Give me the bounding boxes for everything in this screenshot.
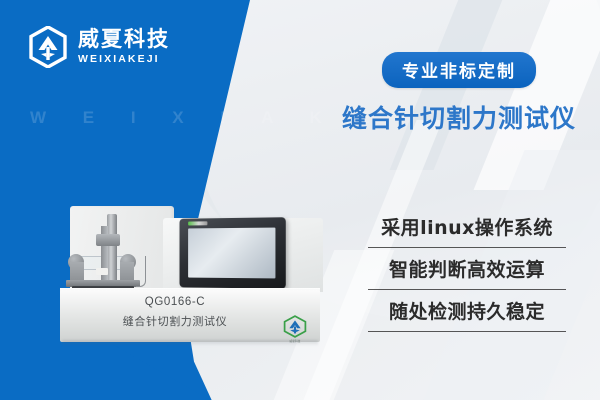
product-model-number: QG0166-C [60,296,290,308]
machine-front-label: QG0166-C 缝合针切割力测试仪 [60,296,290,329]
page-title: 缝合针切割力测试仪 [330,99,588,135]
hmi-touchscreen-icon [180,217,286,289]
feature-list: 采用linux操作系统 智能判断高效运算 随处检测持久稳定 [368,206,566,332]
machine-specimen [96,268,108,275]
feature-item: 智能判断高效运算 [368,248,566,289]
brand-logo-text: 威夏科技 WEIXIAKEJI [78,29,170,65]
test-column-icon [107,214,117,286]
brand-logo: 威夏科技 WEIXIAKEJI [28,26,170,68]
machine-shadow [62,340,318,346]
hmi-screen-surface [188,228,275,279]
feature-item: 采用linux操作系统 [368,206,566,247]
product-banner: 威夏科技 WEIXIAKEJI W E I X I A K E 专业非标定制 缝… [0,0,600,400]
headline-block: 专业非标定制 缝合针切割力测试仪 [330,52,588,135]
hexagon-arrow-logo-icon [28,26,68,68]
feature-label: 随处检测持久稳定 [389,297,545,324]
machine-cable [136,256,146,287]
feature-item: 随处检测持久稳定 [368,290,566,331]
machine-load-head [96,234,120,246]
product-name-label: 缝合针切割力测试仪 [60,313,290,329]
feature-divider [368,289,566,290]
brand-name-cn: 威夏科技 [78,29,170,50]
feature-label: 智能判断高效运算 [389,255,545,282]
status-led [188,221,207,225]
feature-divider [368,247,566,248]
product-machine-image: QG0166-C 缝合针切割力测试仪 威夏科技 [60,200,340,360]
feature-label: 采用linux操作系统 [381,213,553,240]
feature-divider [368,331,566,332]
custom-service-badge: 专业非标定制 [382,52,536,88]
brand-name-en: WEIXIAKEJI [78,54,170,65]
